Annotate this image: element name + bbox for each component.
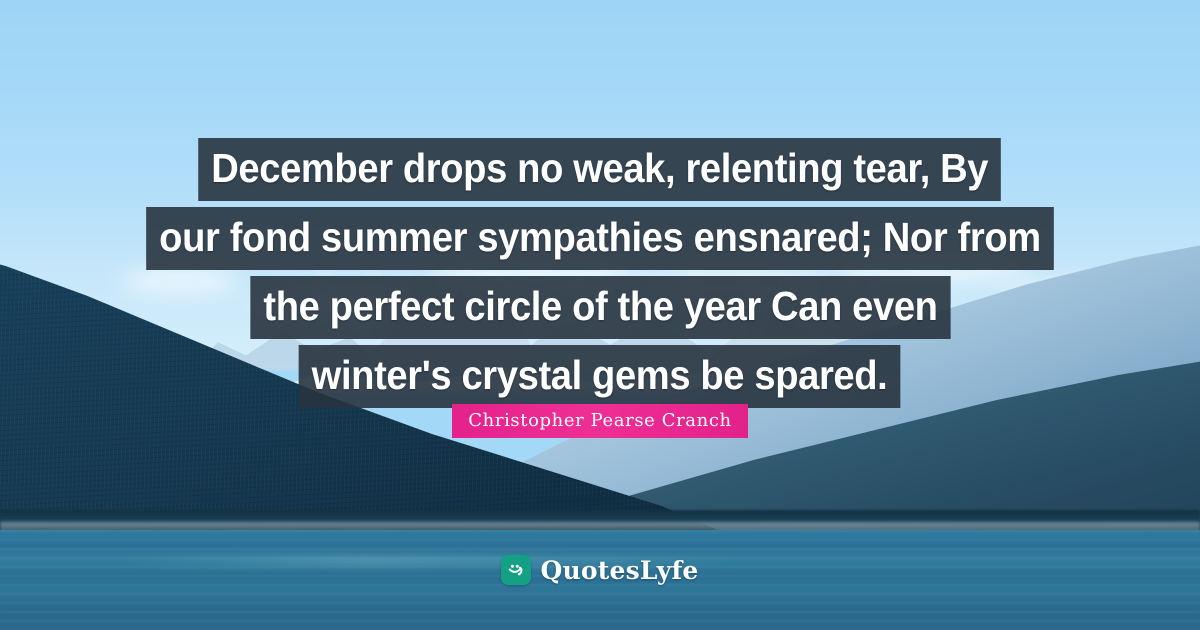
quoteslyfe-logo-icon xyxy=(501,555,531,585)
quote-text-block: December drops no weak, relenting tear, … xyxy=(0,138,1200,414)
brand-logo[interactable]: QuotesLyfe xyxy=(0,555,1200,585)
quote-line: our fond summer sympathies ensnared; Nor… xyxy=(0,207,1200,270)
quote-line-text: the perfect circle of the year Can even xyxy=(250,276,950,339)
brand-name: QuotesLyfe xyxy=(540,556,698,585)
quote-line: the perfect circle of the year Can even xyxy=(0,276,1200,339)
quote-line: winter's crystal gems be spared. xyxy=(0,345,1200,408)
quote-line-text: December drops no weak, relenting tear, … xyxy=(199,138,1002,201)
author-name-badge: Christopher Pearse Cranch xyxy=(452,404,747,438)
quote-line: December drops no weak, relenting tear, … xyxy=(0,138,1200,201)
quote-line-text: winter's crystal gems be spared. xyxy=(299,345,901,408)
quote-card-image: QuotesLyfe December drops no weak, relen… xyxy=(0,0,1200,630)
author-attribution: Christopher Pearse Cranch xyxy=(0,404,1200,438)
quote-line-text: our fond summer sympathies ensnared; Nor… xyxy=(146,207,1054,270)
